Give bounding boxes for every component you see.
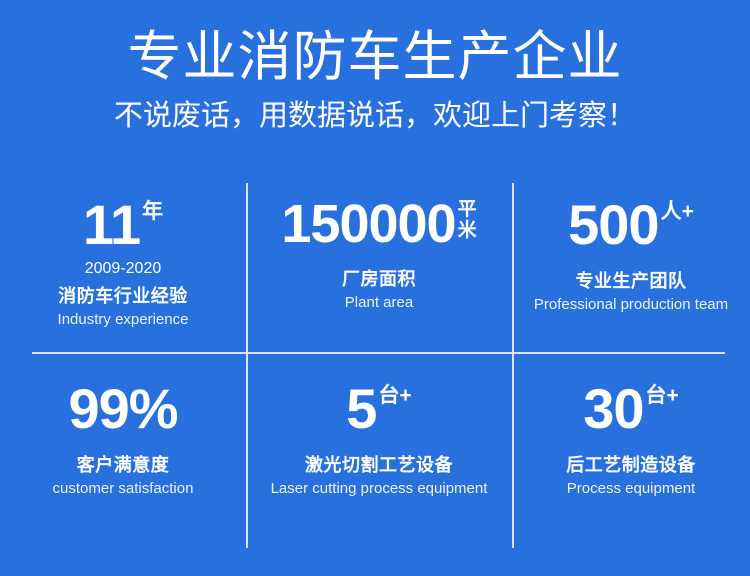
stat-label-cn: 专业生产团队: [576, 269, 687, 293]
stat-number: 11: [83, 197, 140, 253]
stat-number-line: 500 人+: [568, 197, 694, 253]
stats-grid: 11 年 2009-2020 消防车行业经验 Industry experien…: [0, 183, 750, 548]
page-subtitle: 不说废话，用数据说话，欢迎上门考察！: [0, 98, 750, 134]
stat-label-en: Process equipment: [567, 479, 695, 499]
stat-number-line: 99%: [68, 381, 177, 437]
stat-label-en: Professional production team: [534, 295, 728, 315]
stat-number-line: 30 台+: [583, 381, 679, 437]
stat-cell-plant-area: 150000 平 米 厂房面积 Plant area: [246, 183, 512, 353]
stat-label-cn: 后工艺制造设备: [566, 453, 696, 477]
stat-number: 30: [583, 381, 643, 437]
stat-date-range: 2009-2020: [85, 259, 162, 279]
stat-cell-customer-satisfaction: 99% 客户满意度 customer satisfaction: [0, 353, 246, 548]
stat-suffix: 台+: [378, 385, 411, 407]
stat-cell-production-team: 500 人+ 专业生产团队 Professional production te…: [512, 183, 750, 353]
stat-label-en: Plant area: [345, 293, 413, 313]
stat-number: 99%: [68, 381, 177, 437]
stat-number: 5: [346, 381, 376, 437]
stat-label-cn: 厂房面积: [342, 267, 416, 291]
stat-cell-industry-experience: 11 年 2009-2020 消防车行业经验 Industry experien…: [0, 183, 246, 353]
stat-cell-process-equipment: 30 台+ 后工艺制造设备 Process equipment: [512, 353, 750, 548]
stat-label-cn: 激光切割工艺设备: [305, 453, 453, 477]
stat-number: 500: [568, 197, 658, 253]
stat-label-cn: 消防车行业经验: [58, 284, 188, 308]
stat-number-line: 5 台+: [346, 381, 411, 437]
banner-header: 专业消防车生产企业 不说废话，用数据说话，欢迎上门考察！: [0, 0, 750, 134]
stat-suffix-char-2: 米: [458, 221, 477, 242]
stat-label-en: customer satisfaction: [53, 479, 194, 499]
stat-number-line: 150000 平 米: [281, 197, 476, 251]
page-title: 专业消防车生产企业: [0, 26, 750, 88]
stat-label-cn: 客户满意度: [77, 453, 170, 477]
stat-suffix: 人+: [661, 201, 694, 223]
stat-suffix: 台+: [646, 385, 679, 407]
stat-number-line: 11 年: [83, 197, 163, 253]
stat-suffix: 年: [142, 201, 163, 223]
promo-banner: 专业消防车生产企业 不说废话，用数据说话，欢迎上门考察！ 11 年 2009-2…: [0, 0, 750, 576]
stat-number: 150000: [281, 197, 455, 251]
stat-suffix: 平 米: [458, 200, 477, 241]
stat-label-en: Laser cutting process equipment: [271, 479, 488, 499]
stat-label-en: Industry experience: [58, 310, 189, 330]
stat-cell-laser-cutting-equipment: 5 台+ 激光切割工艺设备 Laser cutting process equi…: [246, 353, 512, 548]
stat-suffix-char-1: 平: [458, 200, 477, 221]
